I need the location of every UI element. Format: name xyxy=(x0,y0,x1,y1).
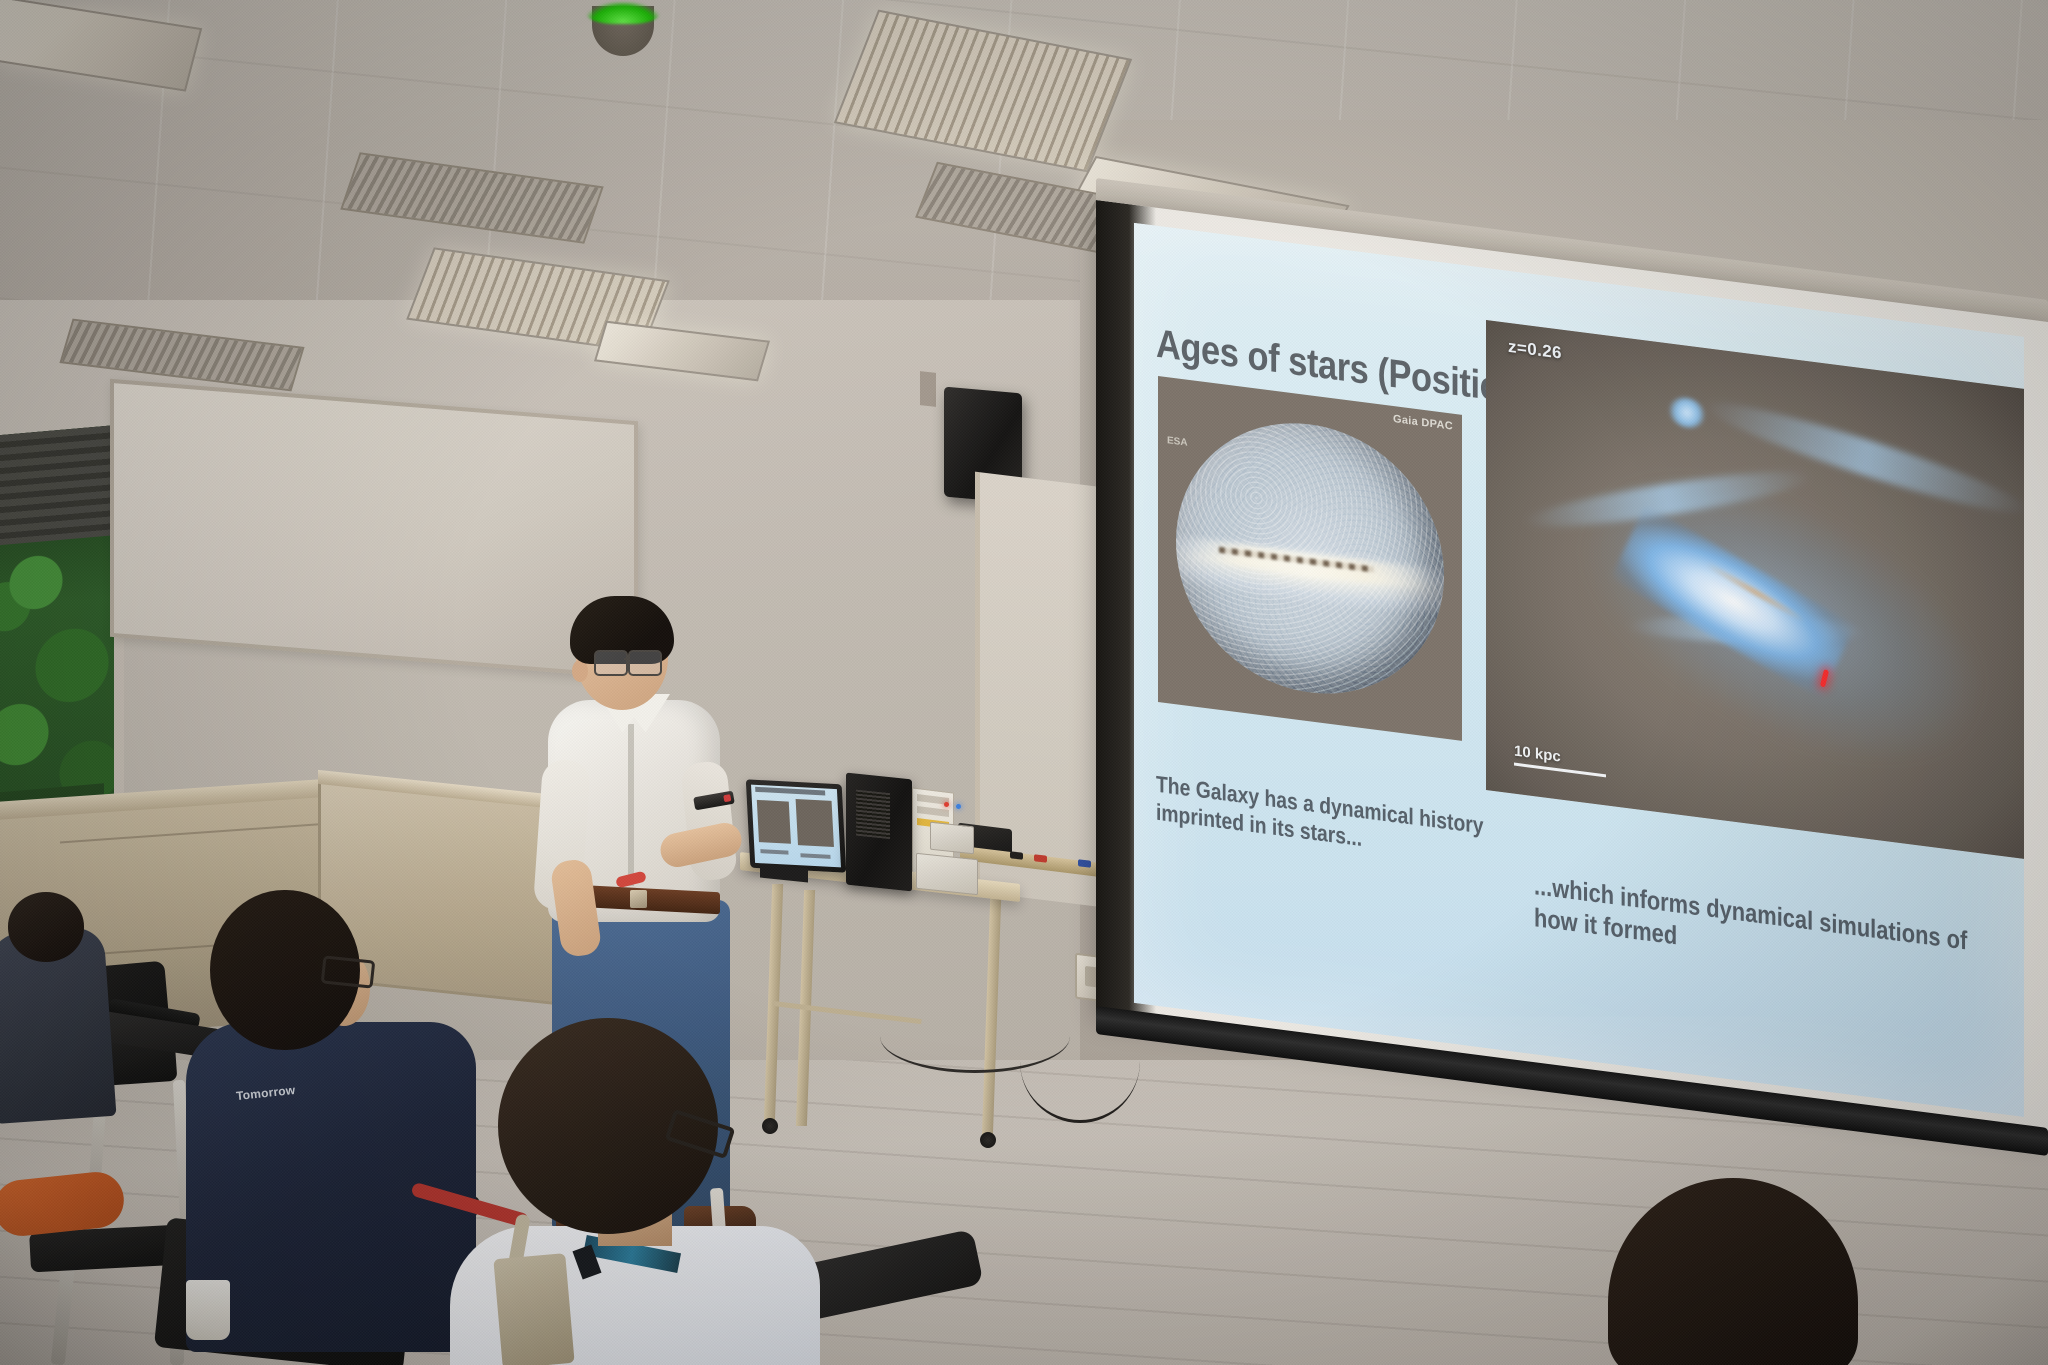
slide-caption-left: The Galaxy has a dynamical history impri… xyxy=(1156,770,1492,869)
projected-slide: Ages of stars (Positions and motions) ES… xyxy=(1134,223,2024,1117)
tote-bag xyxy=(493,1253,574,1365)
monitor-slide-image-left xyxy=(757,800,791,844)
audience-eyeglasses xyxy=(321,955,376,988)
status-led-red xyxy=(944,802,949,807)
speaker-mount-arm xyxy=(920,371,936,407)
marker-red[interactable] xyxy=(1034,854,1047,863)
marker-blue[interactable] xyxy=(1078,859,1091,868)
gaia-sphere xyxy=(1176,407,1444,709)
monitor-screen xyxy=(751,785,841,868)
esa-logo: ESA xyxy=(1167,435,1188,449)
presenter-shirt-placket xyxy=(628,724,634,886)
table-caster xyxy=(762,1118,778,1134)
slide-image-gaia-sky-map: ESA Gaia DPAC xyxy=(1158,376,1462,741)
pc-vent-grille xyxy=(856,790,890,840)
monitor-slide-title-block xyxy=(755,787,825,796)
presenter-belt-buckle xyxy=(630,890,647,908)
audience-far-left-hair xyxy=(8,892,84,962)
window-blind xyxy=(0,425,114,545)
presenter-eyeglasses-bridge xyxy=(624,658,630,660)
presenter-eyeglasses-right-lens xyxy=(628,650,662,676)
table-caster xyxy=(980,1132,996,1148)
monitor-slide-image-right xyxy=(796,799,834,847)
ceiling-sensor-indicator-light xyxy=(586,2,660,24)
presenter-confidence-monitor[interactable] xyxy=(746,779,846,872)
av-equipment-box[interactable] xyxy=(916,853,978,896)
marker-black[interactable] xyxy=(1010,851,1023,860)
lecture-hall-photo: Ages of stars (Positions and motions) ES… xyxy=(0,0,2048,1365)
paper-cup[interactable] xyxy=(186,1280,230,1340)
monitor-slide-caption-right xyxy=(800,853,830,859)
monitor-slide-caption-left xyxy=(760,849,788,854)
av-equipment-box-2[interactable] xyxy=(930,822,974,855)
projector-screen: Ages of stars (Positions and motions) ES… xyxy=(1096,178,2048,1098)
presenter-eyeglasses-left-lens xyxy=(594,650,628,676)
projector-screen-surface: Ages of stars (Positions and motions) ES… xyxy=(1096,200,2048,1132)
slide-image-galaxy-simulation: z=0.26 10 kpc xyxy=(1486,320,2024,859)
desktop-pc-tower[interactable] xyxy=(846,773,912,892)
whiteboard-left xyxy=(110,379,638,679)
gaia-dpac-logo: Gaia DPAC xyxy=(1393,413,1453,433)
poster-band xyxy=(917,806,949,817)
power-cable xyxy=(1020,1000,1140,1123)
status-led-blue xyxy=(956,804,961,809)
slide-caption-right: ...which informs dynamical simulations o… xyxy=(1534,870,1971,989)
